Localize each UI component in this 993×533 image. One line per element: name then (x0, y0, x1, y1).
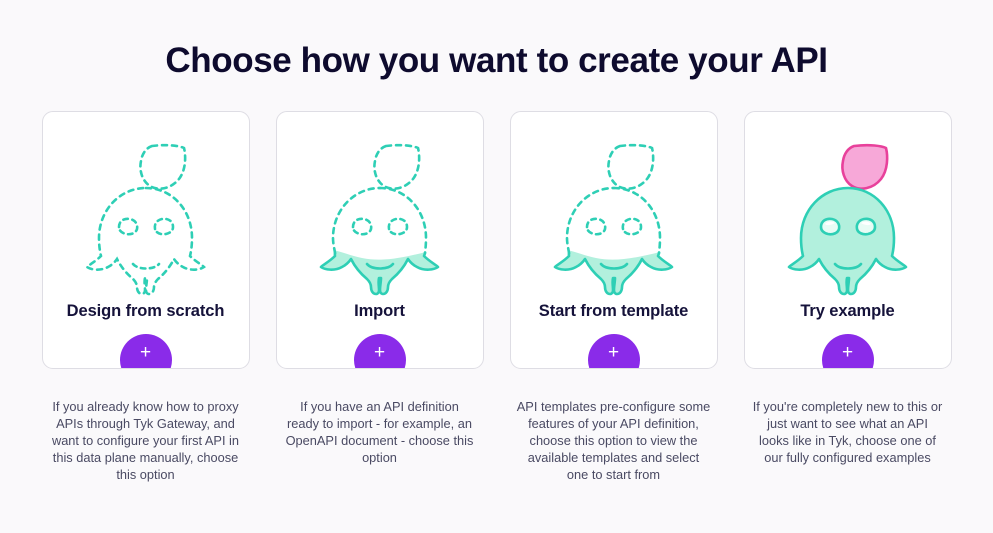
add-button-start-from-template[interactable]: + (588, 334, 640, 369)
add-button-import[interactable]: + (354, 334, 406, 369)
card-label: Design from scratch (67, 302, 225, 322)
card-label: Start from template (539, 302, 688, 322)
mascot-outline-dashed-icon (76, 134, 216, 306)
add-button-design-from-scratch[interactable]: + (120, 334, 172, 369)
card-description: API templates pre-configure some feature… (517, 398, 711, 483)
card-description: If you have an API definition ready to i… (283, 398, 477, 466)
option-card-design-from-scratch[interactable]: Design from scratch + (42, 111, 250, 369)
card-description: If you already know how to proxy APIs th… (49, 398, 243, 483)
card-column-design-from-scratch: Design from scratch + If you already kno… (42, 111, 250, 483)
card-label: Import (354, 302, 405, 322)
card-label: Try example (800, 302, 894, 322)
card-column-try-example: Try example + If you're completely new t… (744, 111, 952, 483)
mascot-full-color-icon (778, 134, 918, 306)
create-api-options-row: Design from scratch + If you already kno… (0, 111, 993, 483)
card-column-import: Import + If you have an API definition r… (276, 111, 484, 483)
option-card-start-from-template[interactable]: Start from template + (510, 111, 718, 369)
mascot-half-filled-icon (310, 134, 450, 306)
plus-icon: + (608, 343, 619, 362)
option-card-try-example[interactable]: Try example + (744, 111, 952, 369)
page-title: Choose how you want to create your API (0, 0, 993, 82)
add-button-try-example[interactable]: + (822, 334, 874, 369)
card-description: If you're completely new to this or just… (751, 398, 945, 466)
card-column-start-from-template: Start from template + API templates pre-… (510, 111, 718, 483)
plus-icon: + (140, 343, 151, 362)
plus-icon: + (374, 343, 385, 362)
plus-icon: + (842, 343, 853, 362)
option-card-import[interactable]: Import + (276, 111, 484, 369)
mascot-half-filled-icon (544, 134, 684, 306)
